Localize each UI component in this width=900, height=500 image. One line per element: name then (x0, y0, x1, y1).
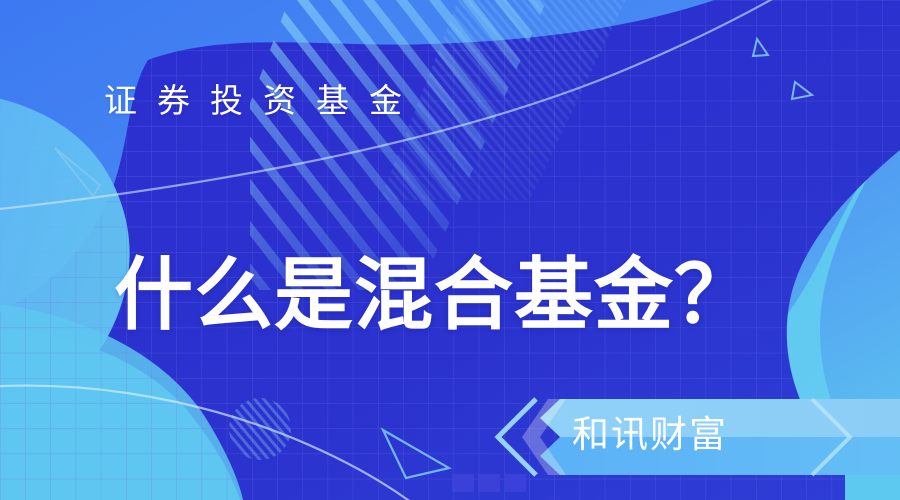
poster-title: 什么是混合基金？ (114, 249, 754, 341)
brand-label: 和讯财富 (572, 406, 812, 464)
poster-subtitle: 证券投资基金 (104, 79, 422, 123)
poster-canvas: 证券投资基金 什么是混合基金？ 和讯财富 (0, 0, 900, 500)
